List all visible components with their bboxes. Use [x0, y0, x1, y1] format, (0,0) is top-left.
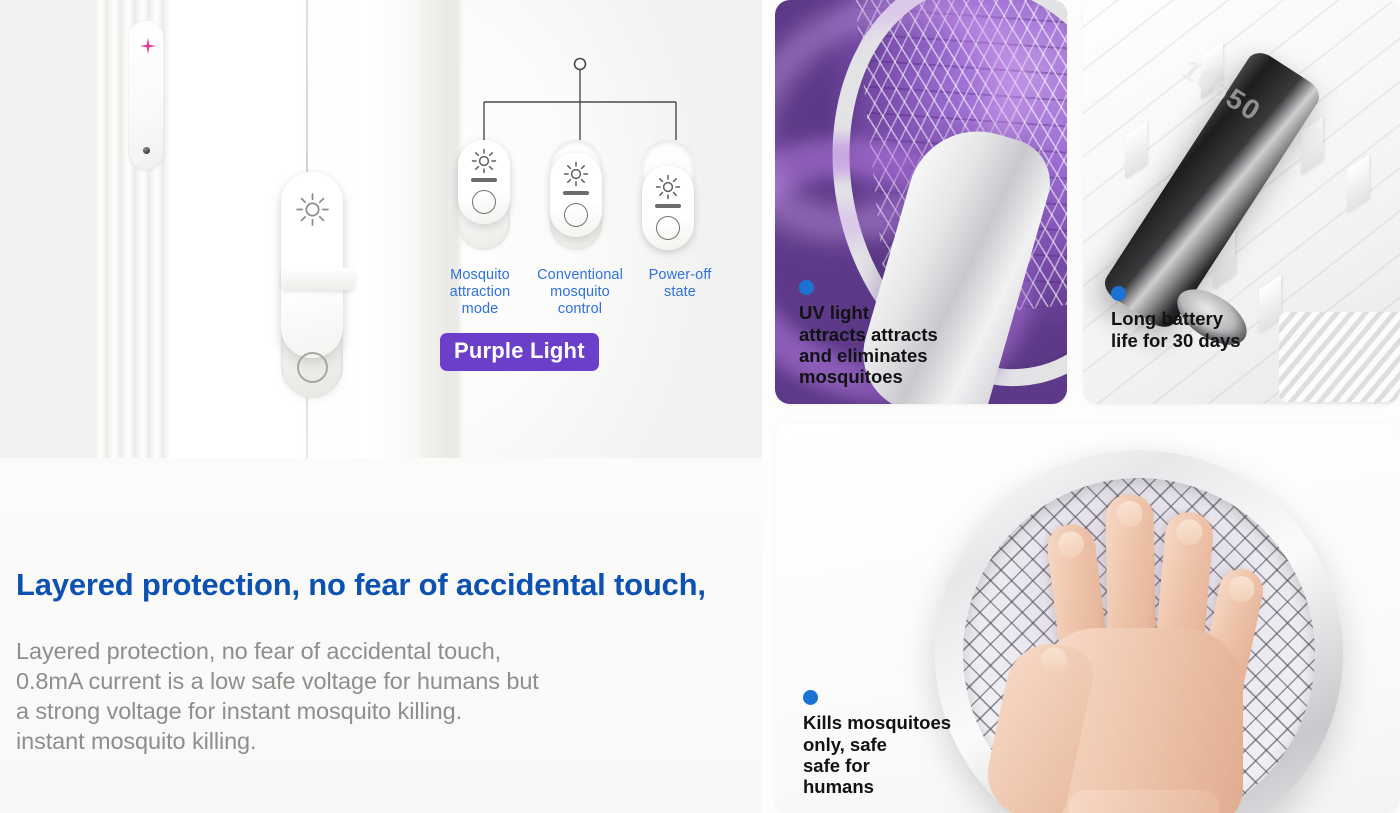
- switch-bar: [471, 178, 497, 182]
- bullet-dot-icon: [799, 280, 814, 295]
- caption-line: safe for: [803, 755, 951, 776]
- sun-icon: [655, 174, 681, 200]
- switch-knob[interactable]: [550, 153, 602, 237]
- body-line: Layered protection, no fear of accidenta…: [16, 636, 742, 666]
- switch-ring: [656, 216, 680, 240]
- switch-label-power-off: Power-off state: [630, 267, 730, 318]
- fingernail: [1175, 518, 1203, 546]
- sun-icon: [471, 148, 497, 174]
- wrist: [1069, 790, 1219, 813]
- feature-card-battery[interactable]: 18650 Long battery life for 30 days: [1083, 0, 1400, 404]
- caption-line: and eliminates: [799, 345, 938, 366]
- body-copy: Layered protection, no fear of accidenta…: [16, 636, 742, 756]
- bullet-dot-icon: [1111, 286, 1126, 301]
- switch-knob[interactable]: [458, 140, 510, 224]
- device-slider-ring: [297, 352, 328, 383]
- switch-labels: Mosquito attraction mode Conventional mo…: [430, 267, 730, 318]
- hand-illustration: [1003, 460, 1283, 813]
- purple-light-badge: Purple Light: [440, 333, 599, 371]
- card-caption: Kills mosquitoes only, safe safe for hum…: [803, 690, 951, 797]
- page-title: Layered protection, no fear of accidenta…: [16, 566, 742, 604]
- body-line: a strong voltage for instant mosquito ki…: [16, 696, 742, 726]
- switch-mosquito-attraction[interactable]: [458, 140, 510, 250]
- caption-line: mosquitoes: [799, 366, 938, 387]
- caption-line: humans: [803, 776, 951, 797]
- product-closeup-photo: Mosquito attraction mode Conventional mo…: [0, 0, 762, 458]
- card-caption: UV light attracts attracts and eliminate…: [799, 280, 938, 387]
- caption-line: attracts attracts: [799, 324, 938, 345]
- caption-line: Kills mosquitoes: [803, 712, 951, 734]
- switch-label-mosquito-attraction: Mosquito attraction mode: [430, 267, 530, 318]
- caption-line: UV light: [799, 302, 938, 324]
- fingernail: [1226, 574, 1257, 605]
- body-line: 0.8mA current is a low safe voltage for …: [16, 666, 742, 696]
- card-caption: Long battery life for 30 days: [1111, 286, 1241, 351]
- sparkle-icon: [140, 38, 156, 54]
- switch-ring: [564, 203, 588, 227]
- switch-bar: [563, 191, 589, 195]
- caption-line: life for 30 days: [1111, 330, 1241, 351]
- switch-bar: [655, 204, 681, 208]
- switch-conventional-mosquito-control[interactable]: [550, 140, 602, 250]
- switch-power-off-state[interactable]: [642, 140, 694, 250]
- body-line: instant mosquito killing.: [16, 726, 742, 756]
- switch-label-conventional-control: Conventional mosquito control: [530, 267, 630, 318]
- feature-card-safe-for-humans[interactable]: Kills mosquitoes only, safe safe for hum…: [775, 424, 1400, 813]
- feature-card-uv-light[interactable]: UV light attracts attracts and eliminate…: [775, 0, 1067, 404]
- sun-icon: [295, 192, 330, 227]
- sensor-hole: [143, 147, 150, 154]
- sun-icon: [563, 161, 589, 187]
- caption-line: Long battery: [1111, 308, 1241, 330]
- caption-line: only, safe: [803, 734, 951, 755]
- switch-knob[interactable]: [642, 166, 694, 250]
- switch-mode-diagram: Mosquito attraction mode Conventional mo…: [430, 55, 730, 375]
- fingernail: [1038, 645, 1069, 676]
- switch-row: [430, 140, 730, 265]
- left-column: Mosquito attraction mode Conventional mo…: [0, 0, 762, 813]
- bullet-dot-icon: [803, 690, 818, 705]
- feature-text-block: Layered protection, no fear of accidenta…: [0, 458, 762, 813]
- fingernail: [1057, 530, 1086, 559]
- product-feature-page: Mosquito attraction mode Conventional mo…: [0, 0, 1400, 813]
- switch-ring: [472, 190, 496, 214]
- device-slider-notch: [281, 268, 355, 290]
- housing-wires: [1279, 312, 1400, 402]
- fingernail: [1116, 501, 1142, 527]
